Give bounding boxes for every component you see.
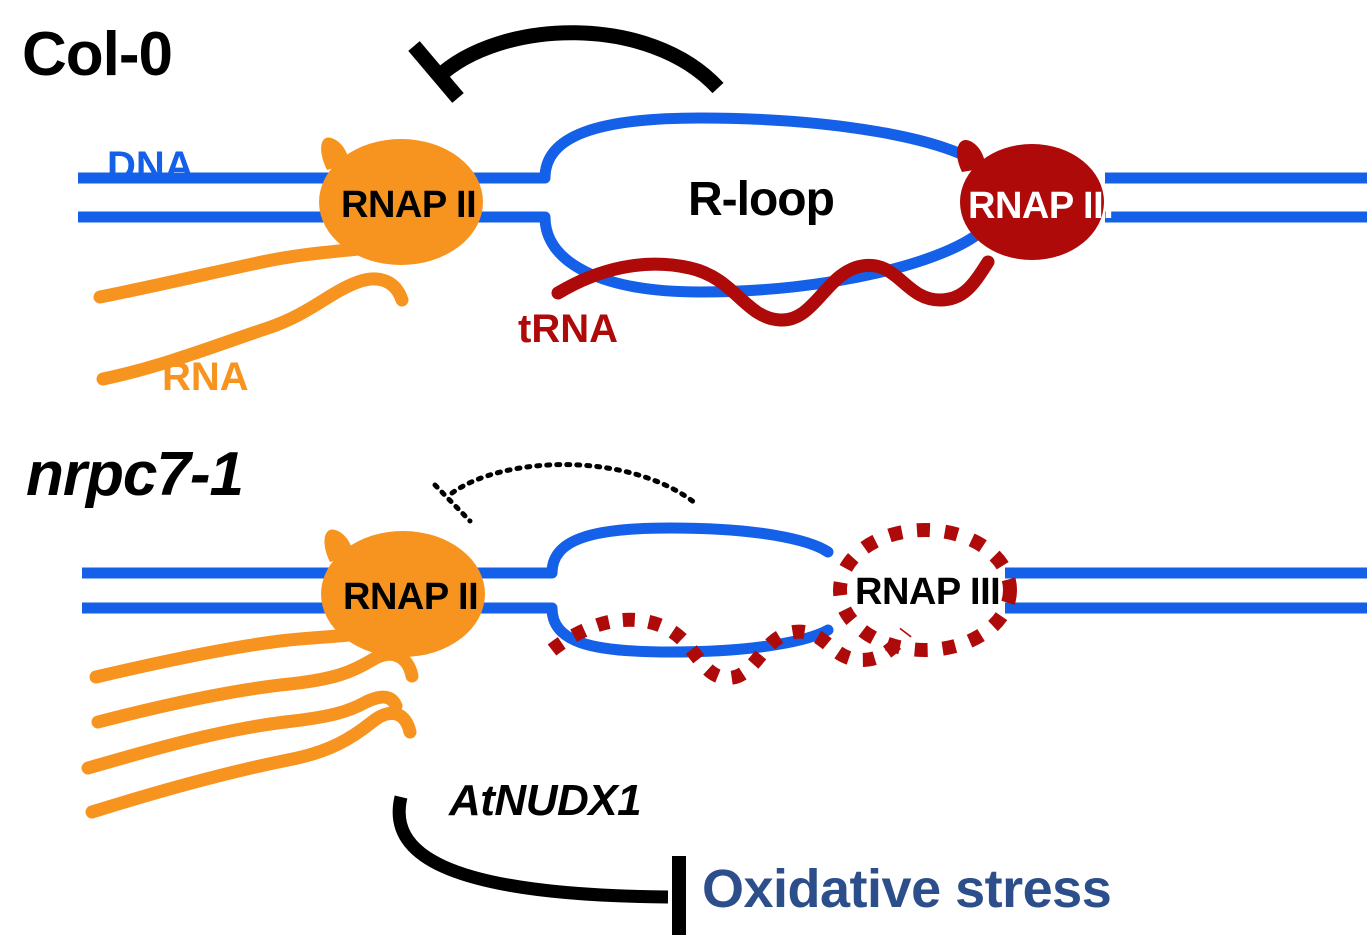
rna-strand-icon-col0-1: [100, 248, 368, 297]
panel-title-col0: Col-0: [22, 24, 172, 86]
r-loop-bubble-icon-nrpc7: [552, 528, 828, 652]
rnap3-label-nrpc7: RNAP III: [855, 573, 1000, 611]
inhibition-arc-icon-nrpc7: [435, 465, 695, 521]
inhibition-arc-icon-col0: [414, 33, 718, 98]
nudx1-label: AtNUDX1: [449, 779, 641, 823]
rna-label-col0: RNA: [162, 357, 249, 397]
dna-duplex-icon-nrpc7-right: [1005, 573, 1367, 608]
trna-label-col0: tRNA: [518, 309, 618, 349]
panel-title-nrpc7: nrpc7-1: [26, 444, 243, 506]
rloop-label-col0: R-loop: [688, 176, 834, 224]
rnap2-label-nrpc7: RNAP II: [343, 578, 478, 616]
figure-canvas: Col-0 DNA RNA tRNA R-loop RNAP II RNAP I…: [0, 0, 1367, 940]
rnap2-label-col0: RNAP II: [341, 186, 476, 224]
dna-label-col0: DNA: [107, 146, 194, 186]
dna-duplex-icon-nrpc7-left: [82, 573, 355, 608]
oxidative-stress-label: Oxidative stress: [702, 862, 1111, 916]
dna-duplex-icon-col0-right: [1105, 178, 1367, 217]
rnap3-label-col0: RNAP III: [968, 187, 1113, 225]
rna-strand-icon-col0-2: [103, 279, 402, 379]
